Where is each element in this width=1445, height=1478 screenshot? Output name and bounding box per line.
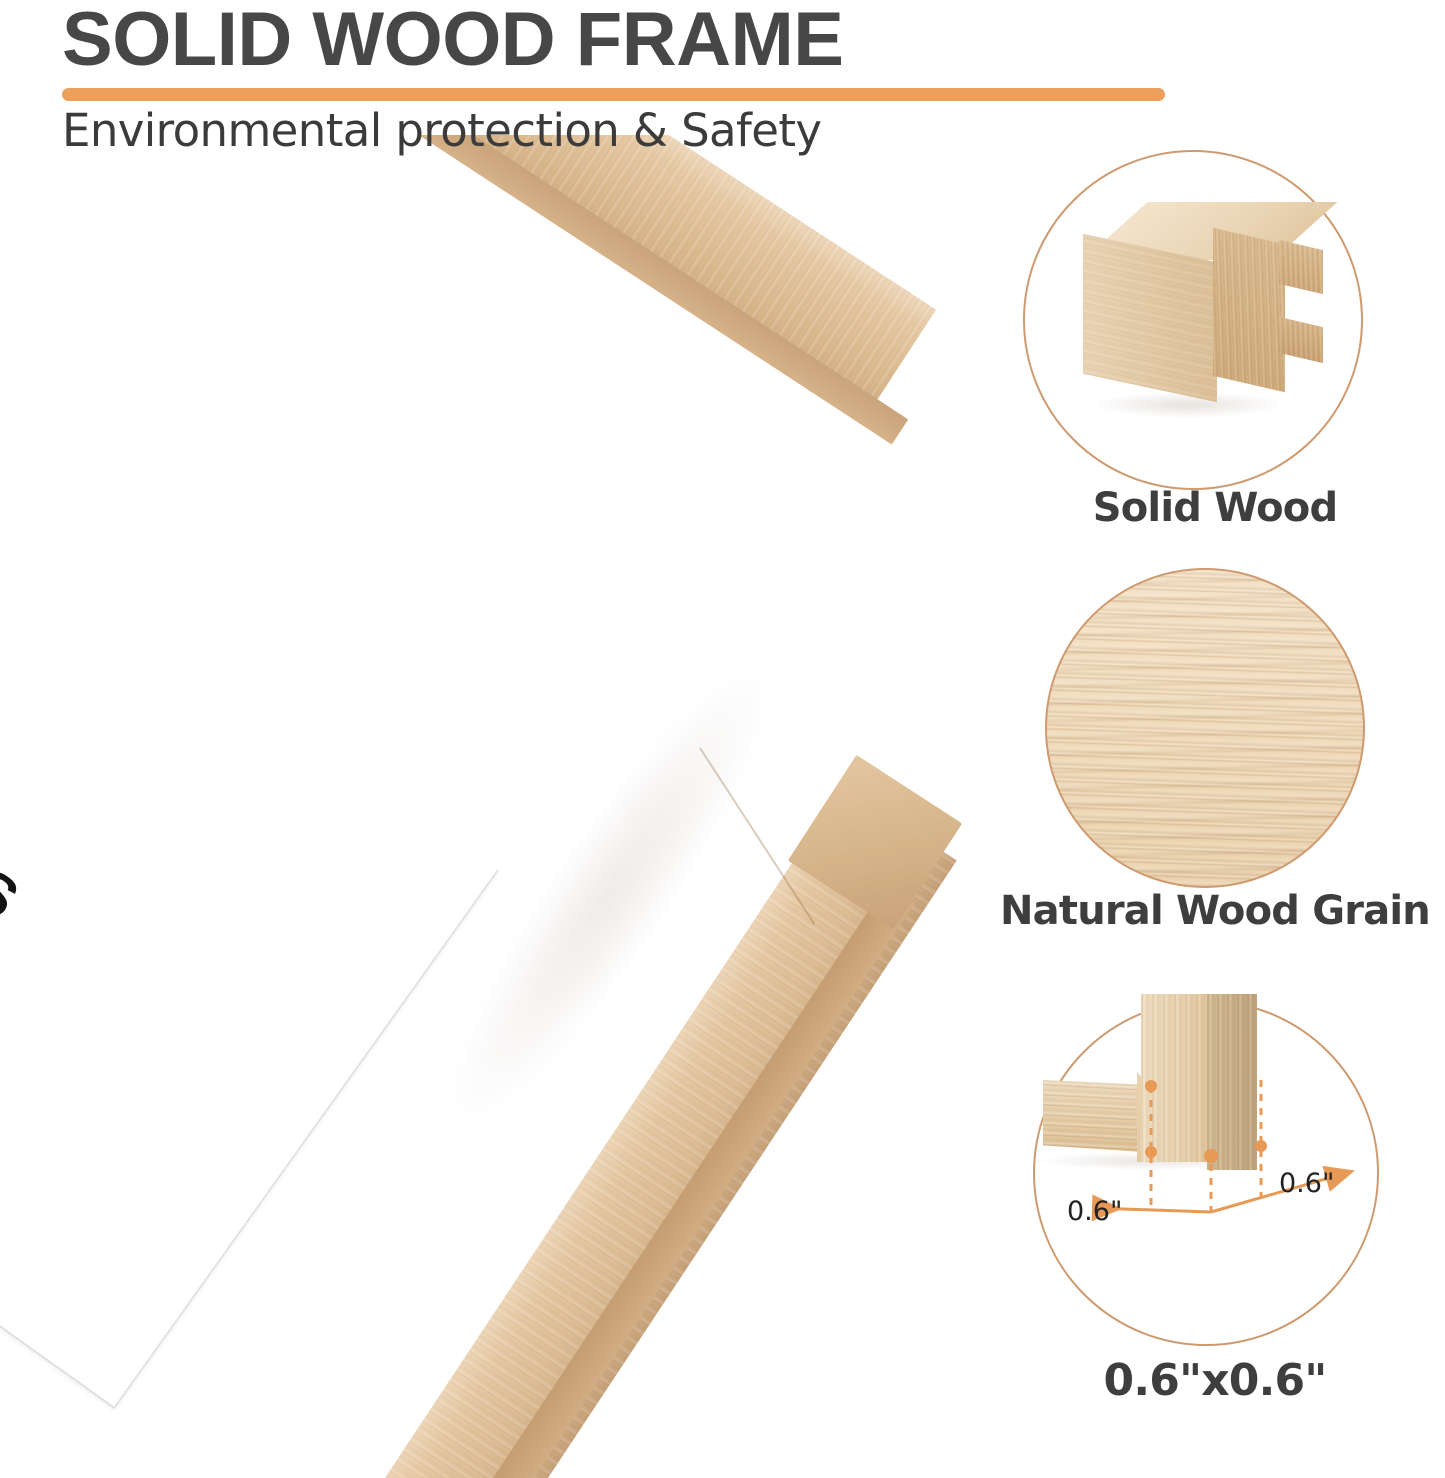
vertex-dot-bottom-left xyxy=(1145,1146,1157,1158)
callout-label-dimensions: 0.6"x0.6" xyxy=(985,1355,1445,1406)
dimension-value-left: 0.6" xyxy=(1067,1196,1122,1227)
page-title: SOLID WOOD FRAME xyxy=(62,0,844,83)
vertex-dot-center xyxy=(1204,1149,1218,1163)
feature-callout-column: Solid Wood Natural Wood Grain xyxy=(985,140,1445,1478)
vertex-dot-top-left xyxy=(1145,1080,1157,1092)
vertex-dot-right xyxy=(1255,1140,1267,1152)
frame-corner-photo: ES xyxy=(0,135,1000,1478)
wood-profile-block-icon xyxy=(1083,210,1323,425)
frame-corner-dimension-icon: 0.6" 0.6" xyxy=(1033,1000,1379,1346)
block-rabbet-lower-step xyxy=(1279,317,1323,363)
title-underline-rule xyxy=(62,88,1165,101)
page-subtitle: Environmental protection & Safety xyxy=(62,104,821,157)
callout-label-natural-wood-grain: Natural Wood Grain xyxy=(985,888,1445,934)
dimension-value-right: 0.6" xyxy=(1279,1168,1334,1199)
callout-label-solid-wood: Solid Wood xyxy=(985,485,1445,531)
product-feature-graphic: SOLID WOOD FRAME Environmental protectio… xyxy=(0,0,1445,1478)
block-front-face xyxy=(1083,234,1217,402)
header: SOLID WOOD FRAME Environmental protectio… xyxy=(0,0,1200,165)
wood-grain-swatch-icon xyxy=(1045,568,1365,888)
block-rabbet-upper-step xyxy=(1279,240,1323,294)
block-end-grain-face xyxy=(1213,228,1285,393)
